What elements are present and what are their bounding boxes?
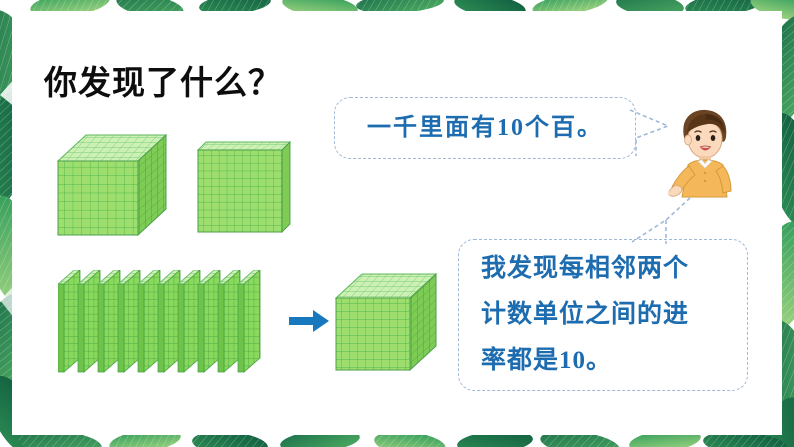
speech-bubble-two-line-2: 计数单位之间的进 xyxy=(481,292,747,338)
hundred-flat-top xyxy=(196,140,292,234)
thousand-cube-top xyxy=(56,133,168,237)
speech-bubble-two-line-1: 我发现每相邻两个 xyxy=(481,246,747,292)
speech-bubble-one: 一千里面有10个百。 xyxy=(334,97,636,159)
ten-hundred-flats-group xyxy=(58,270,268,374)
speech-bubble-two: 我发现每相邻两个 计数单位之间的进 率都是10。 xyxy=(458,239,748,391)
thousand-cube-result xyxy=(334,272,438,372)
page-title: 你发现了什么？ xyxy=(44,56,282,104)
speech-bubble-two-line-3: 率都是10。 xyxy=(481,338,747,384)
boy-pointing-illustration xyxy=(668,107,740,203)
speech-bubble-one-text: 一千里面有10个百。 xyxy=(335,98,635,158)
equals-arrow-icon xyxy=(288,308,330,339)
slide-root: 你发现了什么？ xyxy=(0,0,794,447)
